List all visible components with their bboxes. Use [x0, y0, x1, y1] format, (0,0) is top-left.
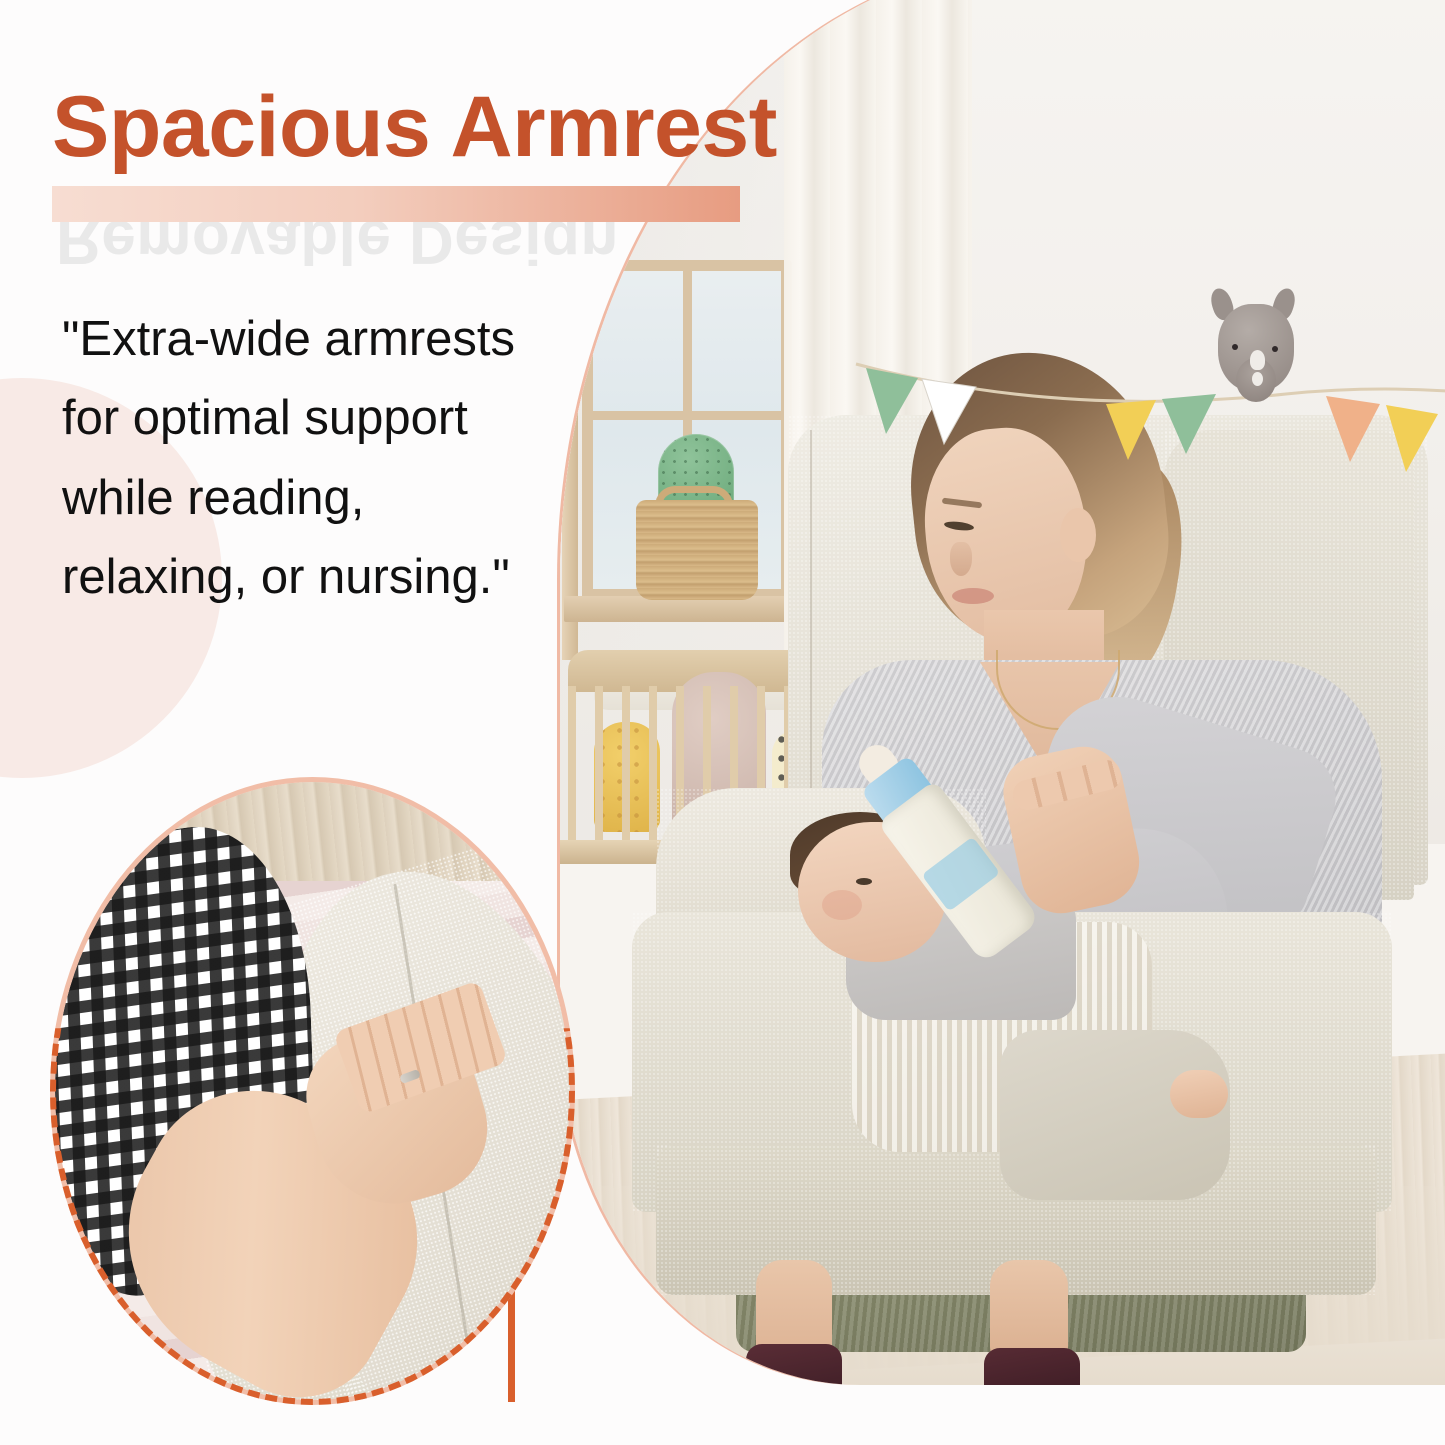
page-title: Spacious Armrest	[52, 78, 777, 177]
ankle-boot-left	[746, 1344, 842, 1385]
ankle-boot-right	[984, 1348, 1080, 1385]
feature-card-canvas: Removable Design Spacious Armrest "Extra…	[0, 0, 1445, 1445]
mother-nose	[950, 542, 972, 576]
quote-line: "Extra-wide armrests	[62, 300, 582, 379]
bunting-garland	[856, 356, 1445, 359]
armrest-detail-inset	[55, 782, 570, 1400]
feature-quote: "Extra-wide armrests for optimal support…	[62, 300, 582, 618]
title-underline-bar	[52, 186, 740, 222]
baby-eye	[856, 878, 872, 885]
rhino-eye-left	[1232, 344, 1238, 350]
quote-line: relaxing, or nursing."	[62, 538, 582, 617]
woven-basket	[636, 500, 758, 600]
rhino-eye-right	[1272, 346, 1278, 352]
rhino-horn-large	[1250, 350, 1265, 370]
baby-foot	[1170, 1070, 1228, 1118]
rhino-horn-small	[1252, 372, 1263, 386]
mother-ear	[1060, 508, 1096, 562]
rhino-plush-wall-mount	[1210, 288, 1302, 408]
quote-line: while reading,	[62, 459, 582, 538]
inset-photo-scene	[55, 782, 570, 1400]
baby-cheek	[822, 890, 862, 920]
quote-line: for optimal support	[62, 379, 582, 458]
mother-lips	[952, 588, 994, 604]
